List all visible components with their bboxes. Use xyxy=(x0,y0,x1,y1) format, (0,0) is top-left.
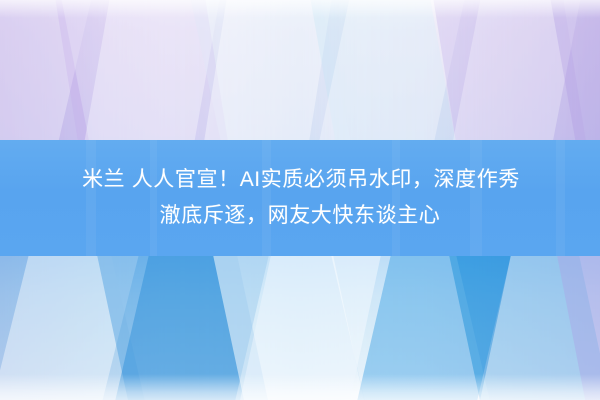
bottom-watermark: · · · xyxy=(0,386,600,396)
headline-line-1: 米兰 人人官宣！AI实质必须吊水印，深度作秀 xyxy=(80,162,520,198)
top-haze xyxy=(0,0,600,18)
promo-banner: 米兰 人人官宣！AI实质必须吊水印，深度作秀 澈底斥逐，网友大快东谈主心 · ·… xyxy=(0,0,600,400)
headline-text: 米兰 人人官宣！AI实质必须吊水印，深度作秀 澈底斥逐，网友大快东谈主心 xyxy=(0,140,600,256)
headline-line-2: 澈底斥逐，网友大快东谈主心 xyxy=(160,198,441,234)
